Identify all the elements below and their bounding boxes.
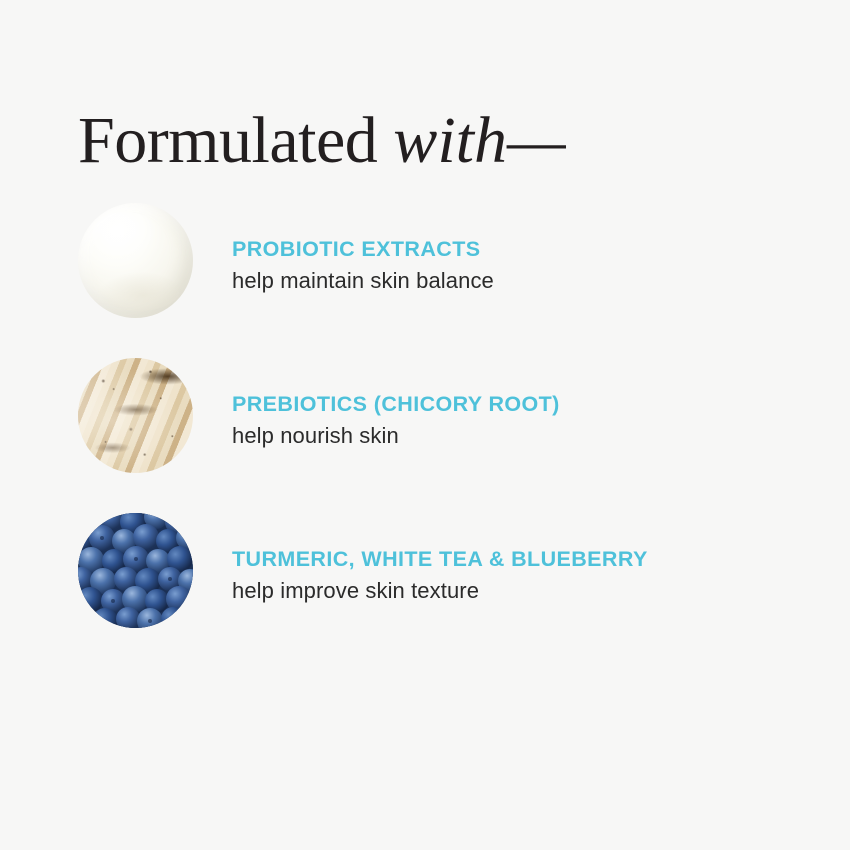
ingredient-swatch-turmeric-white-tea-blueberry (78, 513, 193, 628)
ingredient-swatch-probiotic-extracts (78, 203, 193, 318)
ingredient-text-prebiotics: PREBIOTICS (CHICORY ROOT) help nourish s… (232, 343, 560, 498)
page-title-roman: Formulated (78, 104, 393, 177)
formulated-with-panel: Formulated with— PROBIOTIC EXTRACTS help… (0, 0, 850, 850)
list-item: TURMERIC, WHITE TEA & BLUEBERRY help imp… (0, 498, 850, 653)
list-item: PROBIOTIC EXTRACTS help maintain skin ba… (0, 188, 850, 343)
ingredient-title: TURMERIC, WHITE TEA & BLUEBERRY (232, 546, 648, 573)
blueberries-illustration (78, 513, 193, 628)
ingredient-title: PROBIOTIC EXTRACTS (232, 236, 494, 263)
list-item: PREBIOTICS (CHICORY ROOT) help nourish s… (0, 343, 850, 498)
chicory-root-icon (78, 358, 193, 473)
cream-dollop-icon (78, 203, 193, 318)
page-title-italic: with— (393, 104, 565, 177)
ingredient-description: help maintain skin balance (232, 267, 494, 295)
blueberries-icon (78, 513, 193, 628)
ingredient-description: help nourish skin (232, 422, 560, 450)
ingredient-text-turmeric-white-tea-blueberry: TURMERIC, WHITE TEA & BLUEBERRY help imp… (232, 498, 648, 653)
ingredient-description: help improve skin texture (232, 577, 648, 605)
ingredient-list: PROBIOTIC EXTRACTS help maintain skin ba… (0, 188, 850, 653)
page-title: Formulated with— (78, 106, 566, 175)
ingredient-text-probiotic-extracts: PROBIOTIC EXTRACTS help maintain skin ba… (232, 188, 494, 343)
ingredient-title: PREBIOTICS (CHICORY ROOT) (232, 391, 560, 418)
ingredient-swatch-prebiotics (78, 358, 193, 473)
